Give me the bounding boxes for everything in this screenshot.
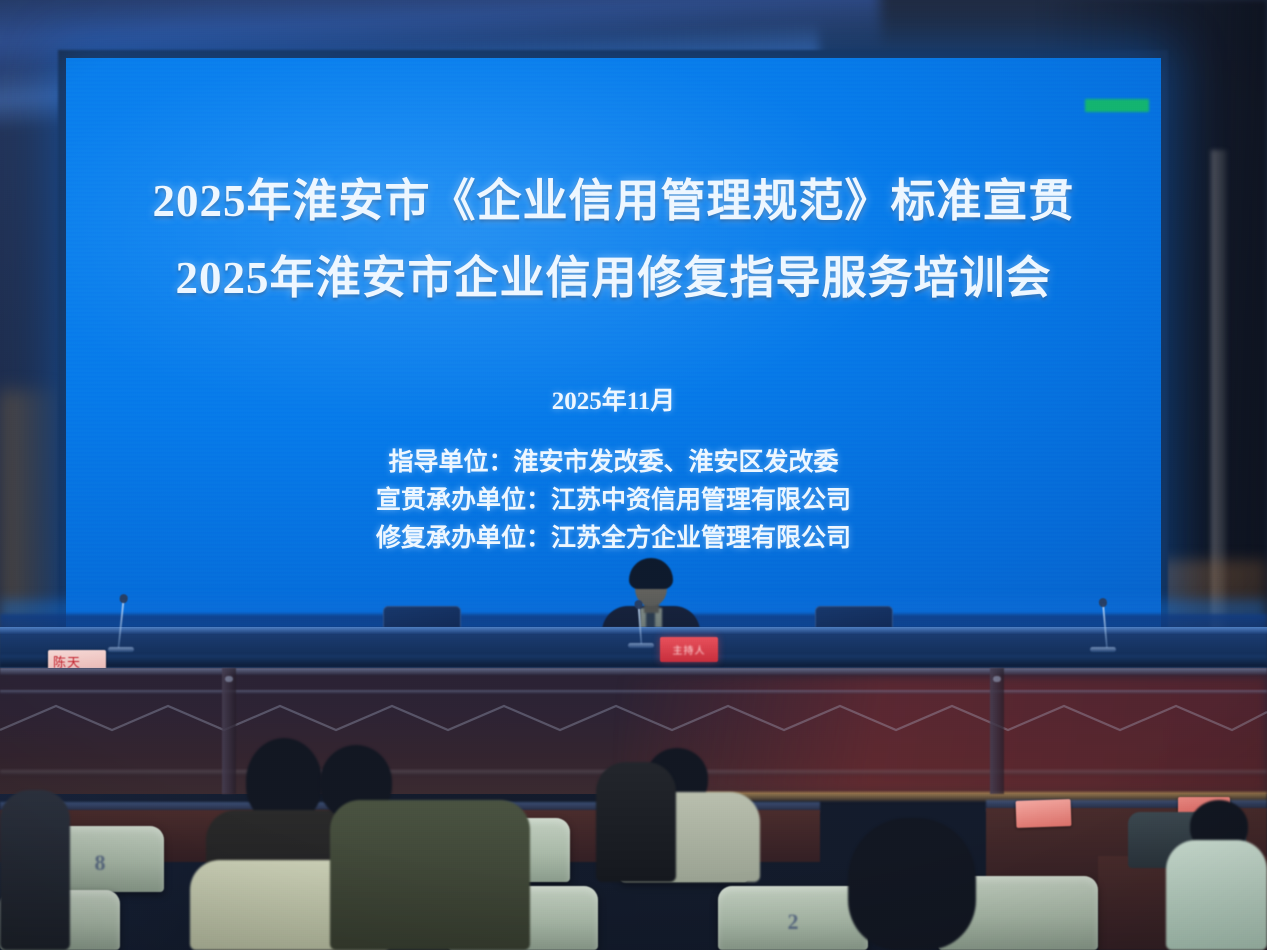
wood-rail-top bbox=[0, 668, 1267, 675]
organizer-line-promotion: 宣贯承办单位：江苏中资信用管理有限公司 bbox=[66, 482, 1161, 520]
slide-title-line-1: 2025年淮安市《企业信用管理规范》标准宣贯 bbox=[66, 164, 1161, 229]
wood-zigzag-ornament-icon bbox=[0, 700, 1267, 742]
audience-person-7-head bbox=[848, 818, 976, 950]
audience-person-8-body bbox=[1166, 840, 1267, 950]
audience-person-6-body bbox=[596, 762, 676, 882]
audience-person-9-body bbox=[0, 790, 70, 950]
head-table-surface-highlight bbox=[0, 627, 1267, 634]
audience-person-7 bbox=[822, 818, 1012, 950]
speaker-name-placard: 主持人 bbox=[660, 637, 718, 662]
slide-date: 2025年11月 bbox=[66, 381, 1161, 417]
speaker-name-placard-text: 主持人 bbox=[660, 637, 718, 662]
audience-person-9 bbox=[0, 790, 70, 950]
audience-person-4 bbox=[330, 800, 530, 950]
speaker-hair bbox=[629, 558, 673, 589]
slide-title-line-2: 2025年淮安市企业信用修复指导服务培训会 bbox=[66, 241, 1161, 306]
audience-person-8 bbox=[1166, 800, 1267, 950]
conference-room-photo: 2025年淮安市《企业信用管理规范》标准宣贯 2025年淮安市企业信用修复指导服… bbox=[0, 0, 1267, 950]
microphone-right-base bbox=[1090, 647, 1116, 652]
microphone-center-base bbox=[628, 643, 654, 648]
wood-post-2 bbox=[990, 668, 1004, 794]
organizer-line-guidance: 指导单位：淮安市发改委、淮安区发改委 bbox=[66, 444, 1161, 482]
slide-organizer-block: 指导单位：淮安市发改委、淮安区发改委 宣贯承办单位：江苏中资信用管理有限公司 修… bbox=[66, 444, 1161, 558]
microphone-left-base bbox=[108, 647, 134, 652]
head-table-front-lip bbox=[0, 655, 1267, 667]
organizer-line-repair: 修复承办单位：江苏全方企业管理有限公司 bbox=[66, 520, 1161, 558]
wood-rail-second bbox=[0, 690, 1267, 694]
audience-person-6 bbox=[596, 762, 676, 882]
audience-namecard-1 bbox=[1016, 799, 1072, 828]
audience-person-4-body bbox=[330, 800, 530, 950]
